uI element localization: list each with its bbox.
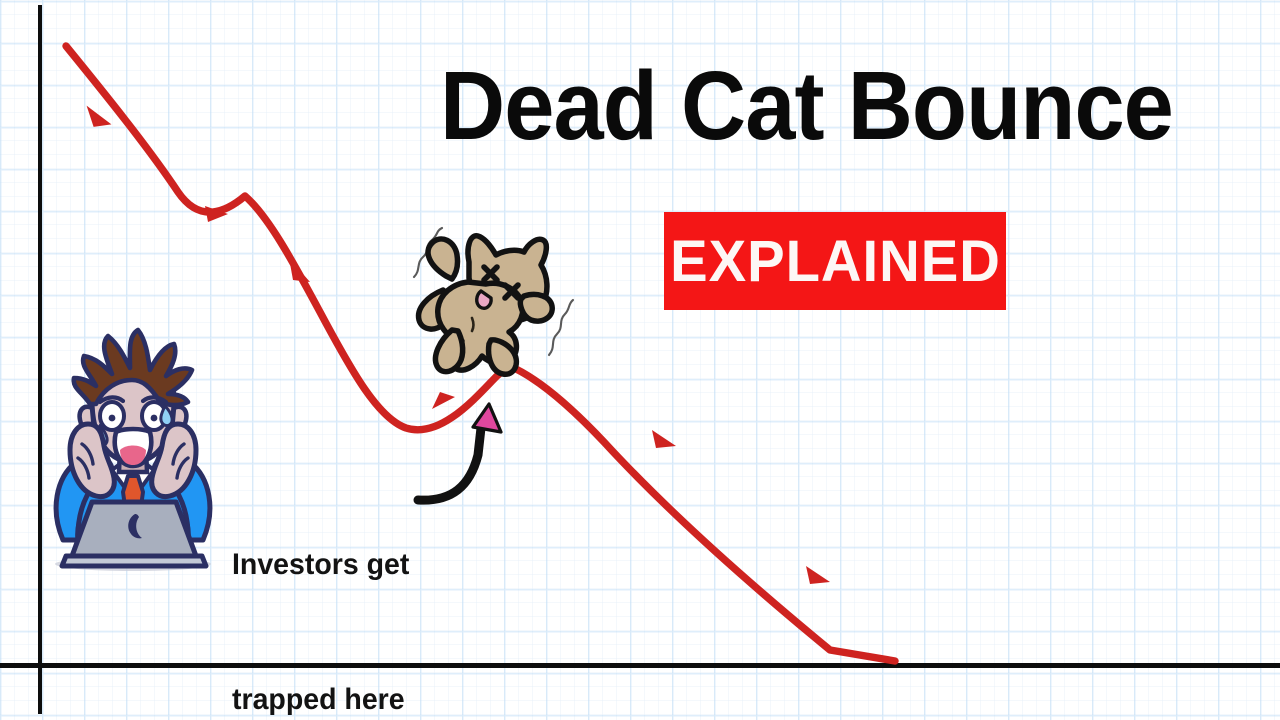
annotation-line-2: trapped here — [232, 677, 409, 720]
annotation-line-1: Investors get — [232, 542, 409, 587]
x-axis — [0, 663, 1280, 668]
page-title: Dead Cat Bounce — [440, 56, 1184, 156]
explained-badge: EXPLAINED — [664, 212, 1006, 310]
annotation-caption: Investors get trapped here — [232, 452, 409, 720]
dead-cat-bounce-thumbnail: Dead Cat Bounce EXPLAINED Investors get … — [0, 0, 1280, 720]
y-axis — [38, 5, 42, 714]
explained-badge-label: EXPLAINED — [670, 228, 1001, 295]
